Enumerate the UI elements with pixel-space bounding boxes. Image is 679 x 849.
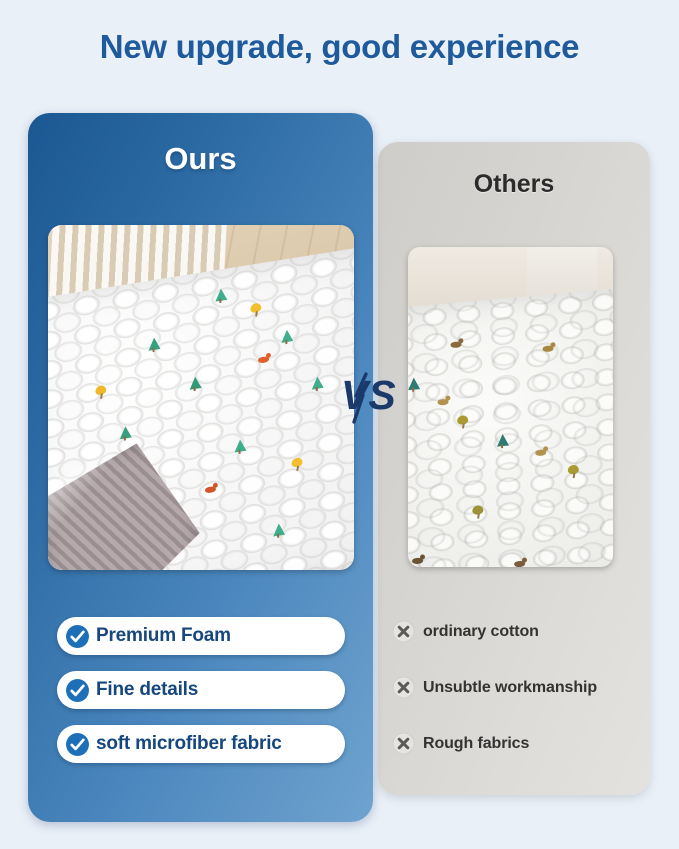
motif-tree xyxy=(309,376,322,393)
x-icon xyxy=(392,676,415,699)
motif-tree xyxy=(278,329,291,346)
check-icon xyxy=(65,624,90,649)
motif-animal xyxy=(437,395,450,411)
ours-product-photo xyxy=(48,225,354,570)
page-title: New upgrade, good experience xyxy=(0,28,679,66)
motif-tree xyxy=(212,288,225,305)
motif-animal xyxy=(205,482,218,499)
list-item: soft microfiber fabric xyxy=(57,725,345,763)
motif-animal xyxy=(412,554,425,567)
vs-text: VS xyxy=(341,372,396,418)
list-item: Rough fabrics xyxy=(392,732,529,755)
others-heading: Others xyxy=(378,170,650,199)
ours-feature-label: Premium Foam xyxy=(96,625,231,647)
motif-leaf xyxy=(566,463,579,479)
motif-leaf xyxy=(290,456,303,473)
motif-leaf xyxy=(94,384,107,401)
ours-heading: Ours xyxy=(28,141,373,177)
others-panel: Others ordinary cotton xyxy=(378,142,650,795)
x-icon xyxy=(392,620,415,643)
motif-tree xyxy=(146,337,159,354)
motif-animal xyxy=(535,445,548,461)
motif-leaf xyxy=(471,504,484,520)
motif-tree xyxy=(232,439,245,456)
mattress-pad xyxy=(48,244,354,570)
others-product-photo xyxy=(408,247,613,567)
ours-panel: Ours xyxy=(28,113,373,822)
others-feature-label: Unsubtle workmanship xyxy=(423,679,597,697)
list-item: Unsubtle workmanship xyxy=(392,676,597,699)
mattress-pad xyxy=(408,287,613,567)
check-icon xyxy=(65,678,90,703)
list-item: ordinary cotton xyxy=(392,620,539,643)
motif-tree xyxy=(271,523,284,540)
others-feature-label: ordinary cotton xyxy=(423,623,539,641)
list-item: Fine details xyxy=(57,671,345,709)
motif-tree xyxy=(408,377,419,393)
check-icon xyxy=(65,732,90,757)
motif-leaf xyxy=(455,414,468,430)
motif-animal xyxy=(450,338,463,354)
motif-animal xyxy=(258,352,271,369)
list-item: Premium Foam xyxy=(57,617,345,655)
vs-icon: VS xyxy=(340,366,406,428)
motif-tree xyxy=(117,425,130,442)
motif-tree xyxy=(494,434,507,450)
ours-feature-label: soft microfiber fabric xyxy=(96,733,282,755)
vs-badge: VS xyxy=(340,366,406,428)
x-icon xyxy=(392,732,415,755)
motif-animal xyxy=(541,341,554,357)
motif-leaf xyxy=(249,302,262,319)
quilt-shading xyxy=(408,287,613,567)
ours-feature-label: Fine details xyxy=(96,679,198,701)
motif-tree xyxy=(187,376,200,393)
motif-animal xyxy=(513,557,526,567)
others-feature-label: Rough fabrics xyxy=(423,735,529,753)
